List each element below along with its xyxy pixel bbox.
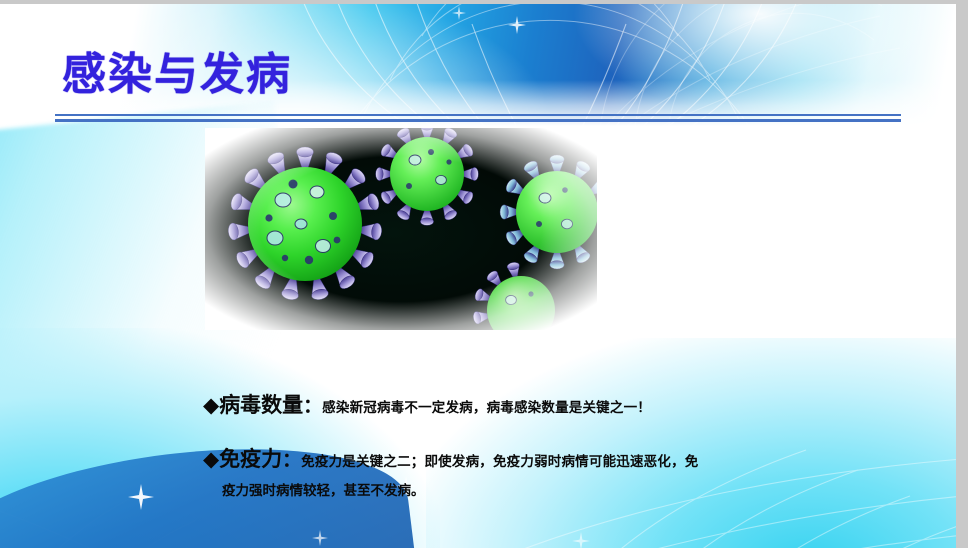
divider-line-bottom [55, 119, 901, 122]
bullet-list: ◆病毒数量：感染新冠病毒不一定发病，病毒感染数量是关键之一！ ◆免疫力：免疫力是… [203, 390, 843, 499]
globe-mesh-top-right-decoration [560, 4, 940, 174]
sparkle-glint-icon [572, 532, 590, 548]
sparkle-glint-icon [508, 16, 526, 34]
bullet-marker-icon: ◆ [203, 393, 219, 417]
slide-frame: 感染与发病 [0, 0, 968, 548]
bullet-colon: ： [282, 449, 301, 471]
bullet-body-text: 感染新冠病毒不一定发病，病毒感染数量是关键之一！ [322, 400, 651, 416]
sparkle-glint-icon [312, 530, 328, 546]
bullet-colon: ： [303, 395, 322, 417]
bullet-body-continuation: 疫力强时病情较轻，甚至不发病。 [222, 479, 843, 499]
bullet-heading: 免疫力 [219, 447, 282, 471]
divider-line-top [55, 114, 901, 116]
sparkle-glint-icon [128, 484, 154, 510]
title-divider [55, 114, 901, 122]
bullet-heading: 病毒数量 [219, 393, 303, 417]
virus-illustration-svg [205, 128, 597, 330]
bullet-marker-icon: ◆ [203, 447, 219, 471]
coronavirus-particles-image [205, 128, 597, 330]
bullet-item-virus-quantity: ◆病毒数量：感染新冠病毒不一定发病，病毒感染数量是关键之一！ [203, 390, 843, 422]
presentation-slide: 感染与发病 [0, 4, 956, 548]
sparkle-glint-icon [452, 6, 466, 20]
bullet-item-immunity: ◆免疫力：免疫力是关键之二；即使发病，免疫力弱时病情可能迅速恶化，免 疫力强时病… [203, 444, 843, 500]
bullet-body-text: 免疫力是关键之二；即使发病，免疫力弱时病情可能迅速恶化，免 [301, 454, 698, 470]
page-title: 感染与发病 [62, 38, 292, 102]
